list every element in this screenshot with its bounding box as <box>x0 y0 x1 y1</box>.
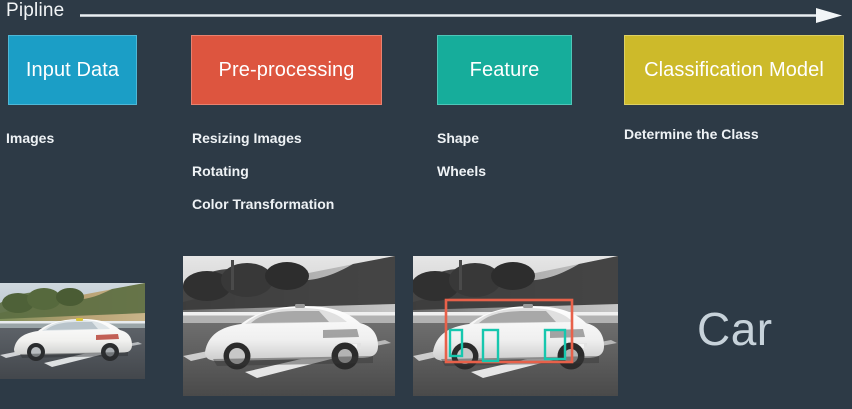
stage-items-input-data: Images <box>6 122 54 155</box>
list-item: Shape <box>437 122 486 155</box>
photo-annotated <box>413 256 618 396</box>
pipeline-header: Pipline <box>0 0 852 30</box>
list-item: Rotating <box>192 155 334 188</box>
car-photo-color <box>0 283 145 379</box>
stage-items-pre-processing: Resizing Images Rotating Color Transform… <box>192 122 334 221</box>
stage-box-feature[interactable]: Feature <box>437 35 572 105</box>
list-item: Images <box>6 122 54 155</box>
car-photo-grayscale <box>183 256 395 396</box>
photo-grayscale <box>183 256 395 396</box>
stage-box-input-data[interactable]: Input Data <box>8 35 137 105</box>
list-item: Color Transformation <box>192 188 334 221</box>
photo-original-color <box>0 283 145 379</box>
list-item: Wheels <box>437 155 486 188</box>
stage-items-feature: Shape Wheels <box>437 122 486 188</box>
right-arrow-icon <box>80 6 846 26</box>
stage-box-pre-processing[interactable]: Pre-processing <box>191 35 382 105</box>
stage-items-classification-model: Determine the Class <box>624 118 759 151</box>
page-title: Pipline <box>6 0 64 22</box>
car-photo-annotated <box>413 256 618 396</box>
list-item: Determine the Class <box>624 118 759 151</box>
classification-result: Car <box>697 302 773 356</box>
list-item: Resizing Images <box>192 122 334 155</box>
stage-box-classification-model[interactable]: Classification Model <box>624 35 844 105</box>
